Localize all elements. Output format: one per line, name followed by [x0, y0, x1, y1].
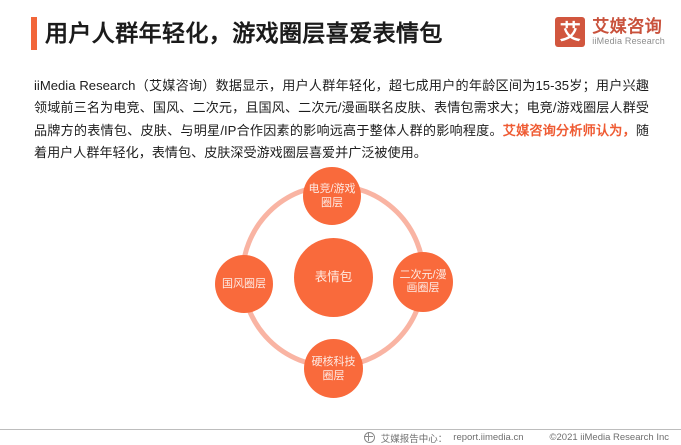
diagram-node-top-label: 电竞/游戏圈层	[307, 182, 356, 210]
brand-logo: 艾 艾媒咨询 iiMedia Research	[555, 17, 665, 47]
diagram-node-right: 二次元/漫画圈层	[393, 252, 453, 312]
footer-report-center-label: 艾媒报告中心：	[381, 431, 448, 445]
diagram-node-left: 国风圈层	[215, 255, 273, 313]
page-footer: 艾媒报告中心： report.iimedia.cn ©2021 iiMedia …	[0, 430, 681, 445]
diagram-node-bottom-label: 硬核科技圈层	[308, 355, 358, 383]
globe-icon	[364, 432, 375, 443]
body-text-accent: 艾媒咨询分析师认为，	[503, 123, 636, 138]
diagram-node-bottom: 硬核科技圈层	[304, 339, 363, 398]
brand-name-cn: 艾媒咨询	[592, 17, 665, 36]
page-title: 用户人群年轻化，游戏圈层喜爱表情包	[45, 18, 443, 49]
diagram-node-top: 电竞/游戏圈层	[303, 167, 361, 225]
title-accent-bar	[31, 17, 37, 50]
brand-mark-icon: 艾	[555, 17, 585, 47]
circle-diagram: 表情包 电竞/游戏圈层 二次元/漫画圈层 硬核科技圈层 国风圈层	[0, 155, 681, 410]
footer-copyright: ©2021 iiMedia Research Inc	[550, 432, 669, 443]
diagram-node-center-label: 表情包	[300, 270, 367, 285]
body-paragraph: iiMedia Research（艾媒咨询）数据显示，用户人群年轻化，超七成用户…	[34, 75, 649, 164]
brand-name-en: iiMedia Research	[592, 36, 665, 47]
diagram-node-right-label: 二次元/漫画圈层	[398, 269, 449, 296]
diagram-node-center: 表情包	[294, 238, 373, 317]
page-header: 用户人群年轻化，游戏圈层喜爱表情包 艾 艾媒咨询 iiMedia Researc…	[0, 0, 681, 58]
diagram-node-left-label: 国风圈层	[219, 277, 268, 291]
footer-url[interactable]: report.iimedia.cn	[453, 432, 523, 443]
brand-text: 艾媒咨询 iiMedia Research	[592, 17, 665, 47]
